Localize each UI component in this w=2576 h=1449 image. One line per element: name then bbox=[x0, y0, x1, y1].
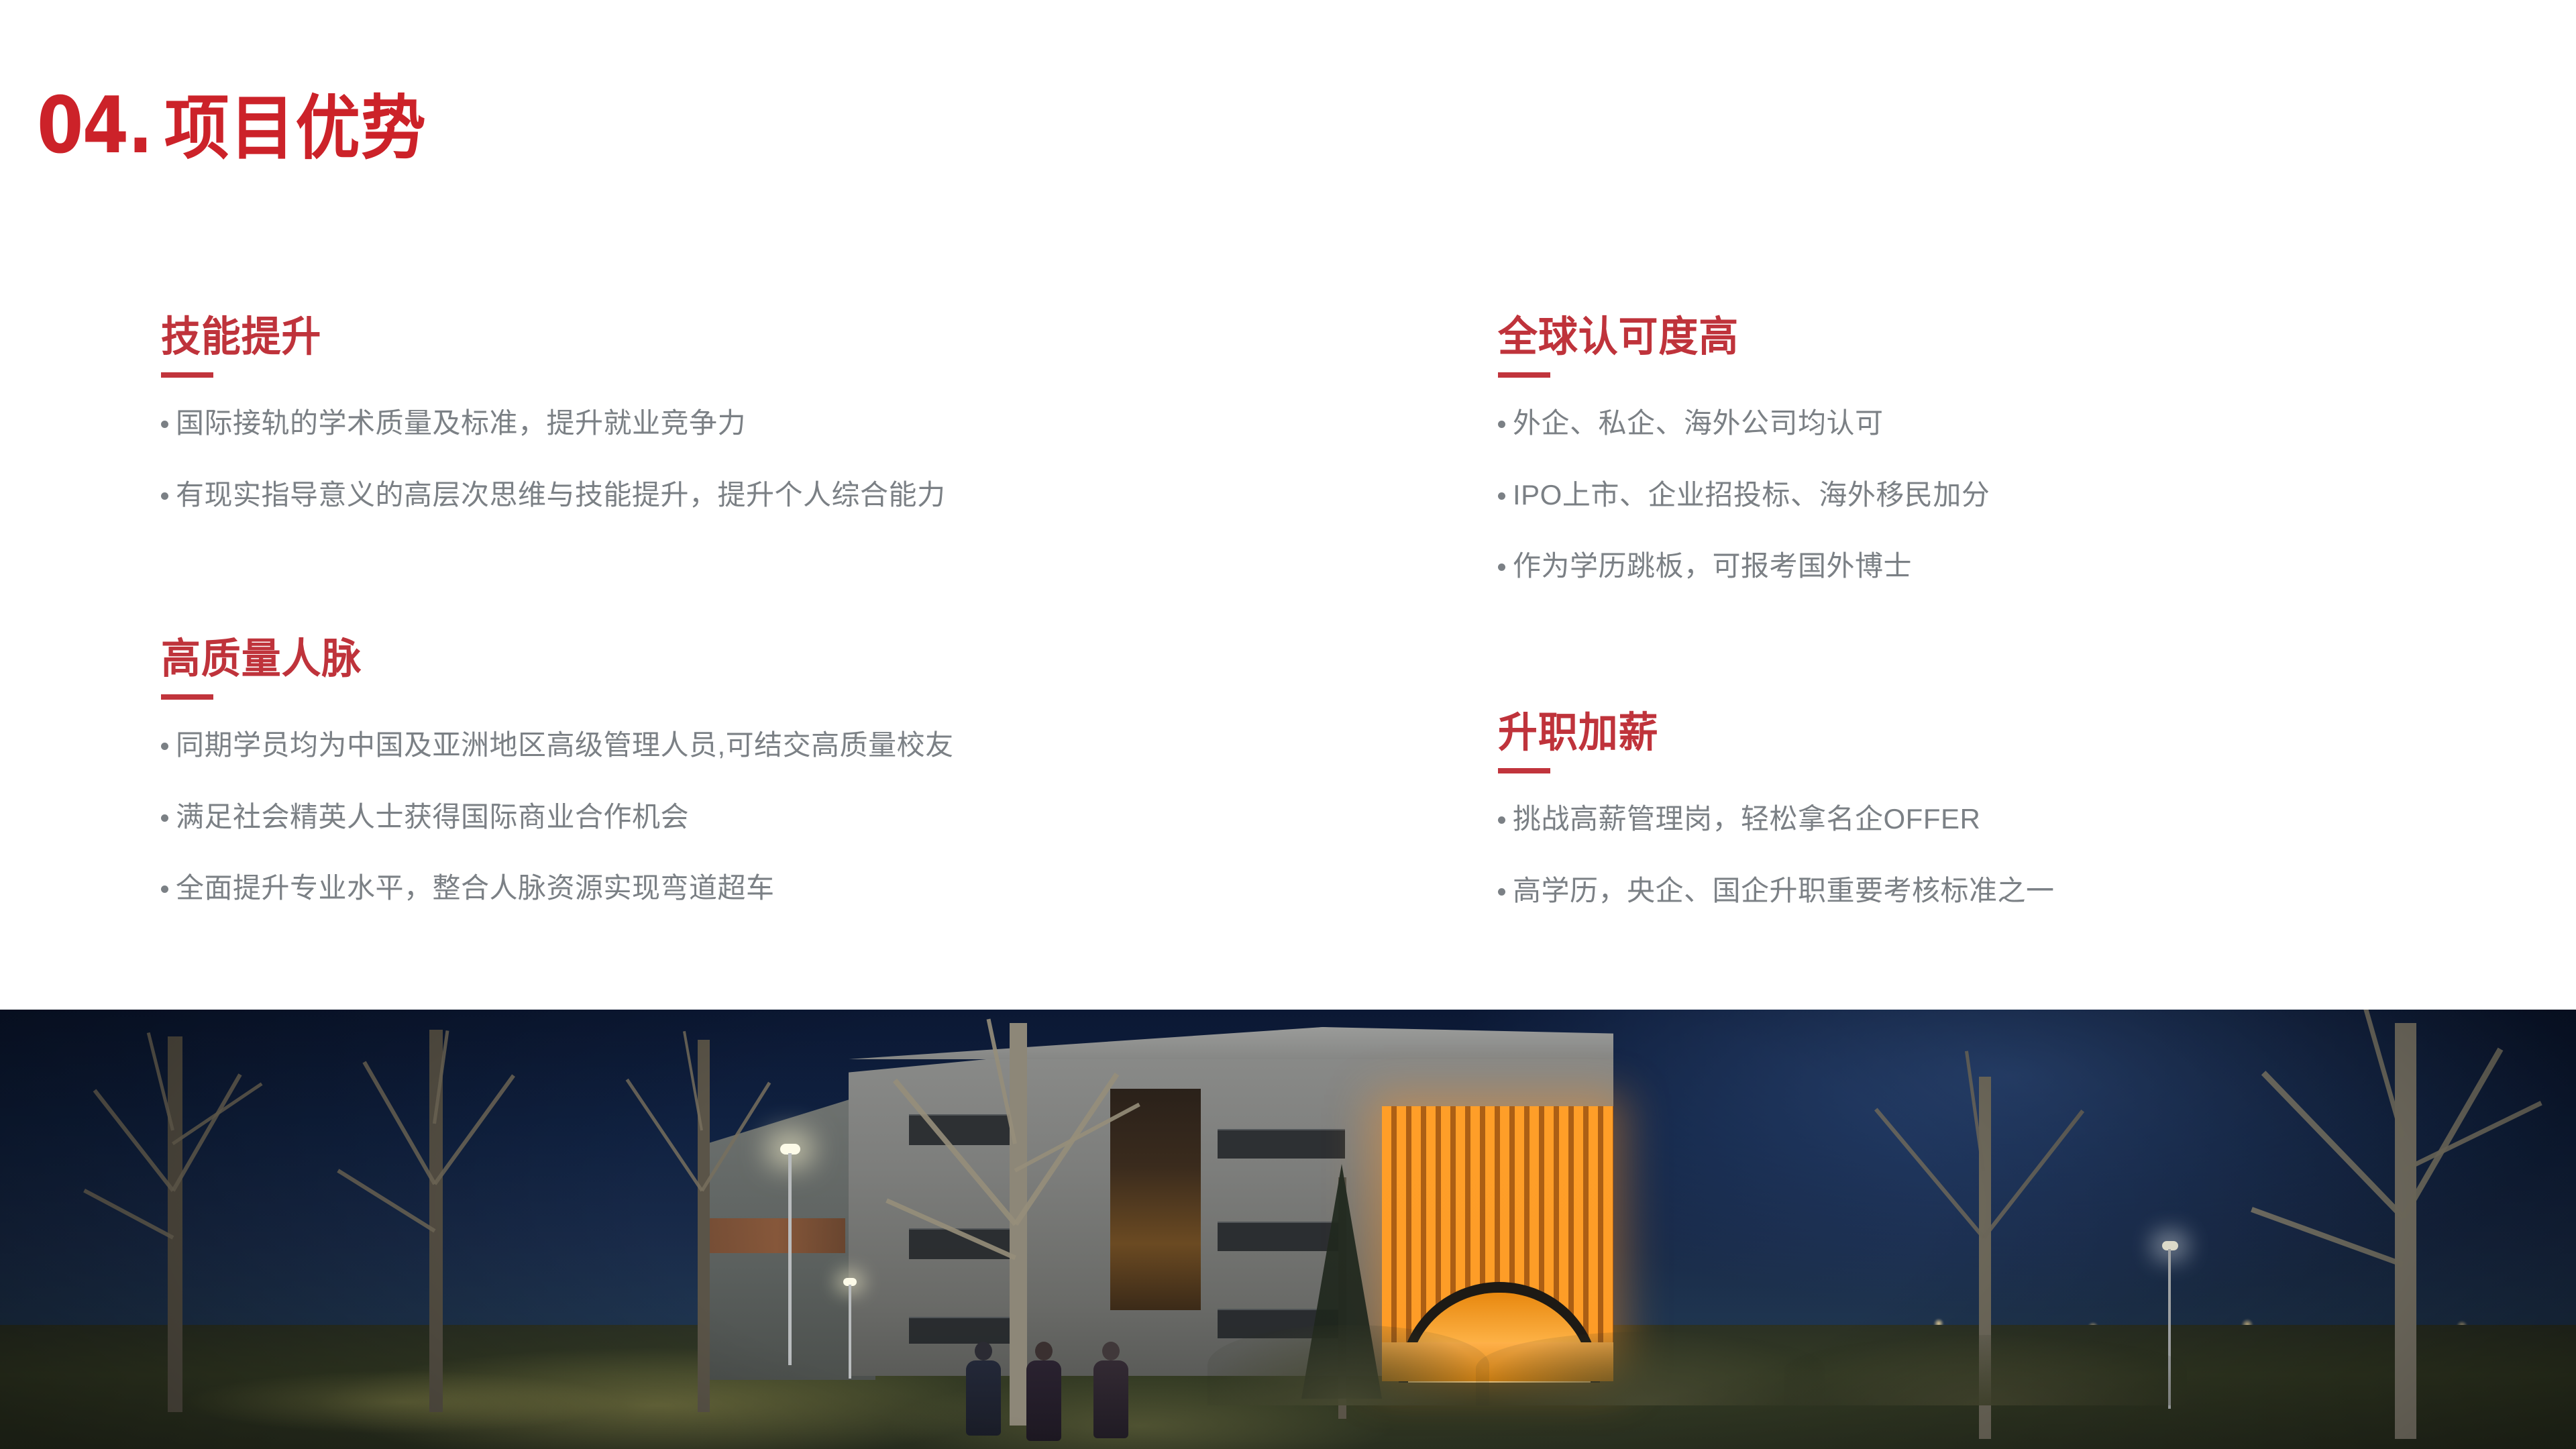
bullet-text: 国际接轨的学术质量及标准，提升就业竞争力 bbox=[176, 405, 746, 443]
advantage-block-promotion: 升职加薪 挑战高薪管理岗，轻松拿名企OFFER 高学历，央企、国企升职重要考核标… bbox=[1498, 711, 2055, 943]
list-item: 国际接轨的学术质量及标准，提升就业竞争力 bbox=[161, 405, 946, 443]
tree-branch bbox=[1982, 1110, 2084, 1239]
list-item: IPO上市、企业招投标、海外移民加分 bbox=[1498, 476, 1990, 515]
tree-trunk bbox=[698, 1040, 710, 1412]
bare-tree bbox=[40, 1010, 322, 1412]
advantage-block-global-recognition: 全球认可度高 外企、私企、海外公司均认可 IPO上市、企业招投标、海外移民加分 … bbox=[1498, 315, 1990, 619]
tree-trunk bbox=[2395, 1023, 2416, 1439]
tree-branch bbox=[2261, 1071, 2406, 1220]
tree-branch bbox=[2251, 1207, 2404, 1267]
bullet-dot-icon bbox=[1498, 816, 1505, 824]
bullet-dot-icon bbox=[161, 421, 168, 428]
person-walking bbox=[1093, 1342, 1128, 1438]
block-heading: 升职加薪 bbox=[1498, 711, 2027, 755]
list-item: 高学历，央企、国企升职重要考核标准之一 bbox=[1498, 872, 2055, 910]
list-item: 全面提升专业水平，整合人脉资源实现弯道超车 bbox=[161, 869, 954, 908]
bullet-text: 高学历，央企、国企升职重要考核标准之一 bbox=[1513, 872, 2055, 910]
person-head bbox=[1035, 1342, 1053, 1360]
tree-branch bbox=[1874, 1108, 1985, 1239]
block-heading: 全球认可度高 bbox=[1498, 315, 1966, 359]
shrub-row bbox=[1476, 1332, 1825, 1405]
list-item: 作为学历跳板，可报考国外博士 bbox=[1498, 547, 1990, 586]
tree-branch bbox=[93, 1089, 175, 1191]
bullet-dot-icon bbox=[1498, 888, 1505, 896]
bullet-dot-icon bbox=[161, 814, 168, 822]
person-head bbox=[1102, 1342, 1120, 1360]
bullet-text: 同期学员均为中国及亚洲地区高级管理人员,可结交高质量校友 bbox=[176, 727, 954, 765]
list-item: 挑战高薪管理岗，轻松拿名企OFFER bbox=[1498, 800, 2055, 839]
bullet-text: 作为学历跳板，可报考国外博士 bbox=[1513, 547, 1912, 586]
block-heading: 高质量人脉 bbox=[161, 637, 914, 681]
tree-branch bbox=[337, 1169, 435, 1232]
heading-underline-rule bbox=[1498, 768, 1550, 773]
tree-branch bbox=[885, 1198, 1016, 1260]
tree-branch bbox=[1014, 1103, 1140, 1173]
person-body bbox=[966, 1360, 1001, 1436]
person-body bbox=[1093, 1360, 1128, 1438]
tree-branch bbox=[700, 1082, 771, 1192]
bullet-text: IPO上市、企业招投标、海外移民加分 bbox=[1513, 476, 1990, 515]
lamp-pole bbox=[849, 1285, 851, 1379]
advantage-block-network: 高质量人脉 同期学员均为中国及亚洲地区高级管理人员,可结交高质量校友 满足社会精… bbox=[161, 637, 954, 941]
tree-trunk bbox=[168, 1036, 182, 1412]
tree-branch bbox=[893, 1079, 1018, 1226]
list-item: 外企、私企、海外公司均认可 bbox=[1498, 405, 1990, 443]
bullet-dot-icon bbox=[161, 885, 168, 893]
campus-photo bbox=[0, 1010, 2576, 1449]
heading-underline-rule bbox=[161, 694, 213, 700]
list-item: 同期学员均为中国及亚洲地区高级管理人员,可结交高质量校友 bbox=[161, 727, 954, 765]
person-walking bbox=[966, 1342, 1001, 1436]
bullet-dot-icon bbox=[161, 743, 168, 750]
heading-underline-rule bbox=[1498, 372, 1550, 378]
bullet-text: 全面提升专业水平，整合人脉资源实现弯道超车 bbox=[176, 869, 775, 908]
content-columns: 技能提升 国际接轨的学术质量及标准，提升就业竞争力 有现实指导意义的高层次思维与… bbox=[0, 0, 2576, 1010]
tree-branch bbox=[2402, 1101, 2542, 1173]
tree-branch bbox=[626, 1079, 704, 1192]
tree-branch bbox=[433, 1074, 515, 1185]
advantage-block-skills: 技能提升 国际接轨的学术质量及标准，提升就业竞争力 有现实指导意义的高层次思维与… bbox=[161, 315, 946, 547]
person-walking bbox=[1026, 1342, 1061, 1441]
slide: 04. 项目优势 技能提升 国际接轨的学术质量及标准，提升就业竞争力 有现实指导… bbox=[0, 0, 2576, 1449]
list-item: 有现实指导意义的高层次思维与技能提升，提升个人综合能力 bbox=[161, 476, 946, 515]
bare-tree bbox=[295, 1010, 577, 1412]
window-band bbox=[1218, 1129, 1345, 1159]
shrub-row bbox=[1207, 1325, 1489, 1405]
tree-branch bbox=[83, 1189, 174, 1240]
tree-branch bbox=[362, 1061, 436, 1185]
bullet-list: 外企、私企、海外公司均认可 IPO上市、企业招投标、海外移民加分 作为学历跳板，… bbox=[1498, 405, 1990, 586]
tree-branch bbox=[1014, 1073, 1120, 1226]
bullet-text: 外企、私企、海外公司均认可 bbox=[1513, 405, 1884, 443]
tree-branch bbox=[172, 1082, 262, 1145]
block-heading: 技能提升 bbox=[161, 315, 906, 359]
shrub-row bbox=[1784, 1335, 2187, 1405]
bullet-dot-icon bbox=[1498, 563, 1505, 571]
person-body bbox=[1026, 1360, 1061, 1441]
bullet-text: 挑战高薪管理岗，轻松拿名企OFFER bbox=[1513, 800, 1980, 839]
bullet-list: 国际接轨的学术质量及标准，提升就业竞争力 有现实指导意义的高层次思维与技能提升，… bbox=[161, 405, 946, 514]
list-item: 满足社会精英人士获得国际商业合作机会 bbox=[161, 798, 954, 837]
bare-tree-foreground bbox=[2173, 1010, 2576, 1439]
bullet-text: 有现实指导意义的高层次思维与技能提升，提升个人综合能力 bbox=[176, 476, 946, 515]
bullet-dot-icon bbox=[1498, 492, 1505, 500]
heading-underline-rule bbox=[161, 372, 213, 378]
bullet-list: 同期学员均为中国及亚洲地区高级管理人员,可结交高质量校友 满足社会精英人士获得国… bbox=[161, 727, 954, 908]
bare-tree bbox=[577, 1010, 845, 1412]
bullet-list: 挑战高薪管理岗，轻松拿名企OFFER 高学历，央企、国企升职重要考核标准之一 bbox=[1498, 800, 2055, 910]
bullet-text: 满足社会精英人士获得国际商业合作机会 bbox=[176, 798, 689, 837]
bullet-dot-icon bbox=[1498, 421, 1505, 428]
person-head bbox=[975, 1342, 992, 1360]
bullet-dot-icon bbox=[161, 492, 168, 500]
